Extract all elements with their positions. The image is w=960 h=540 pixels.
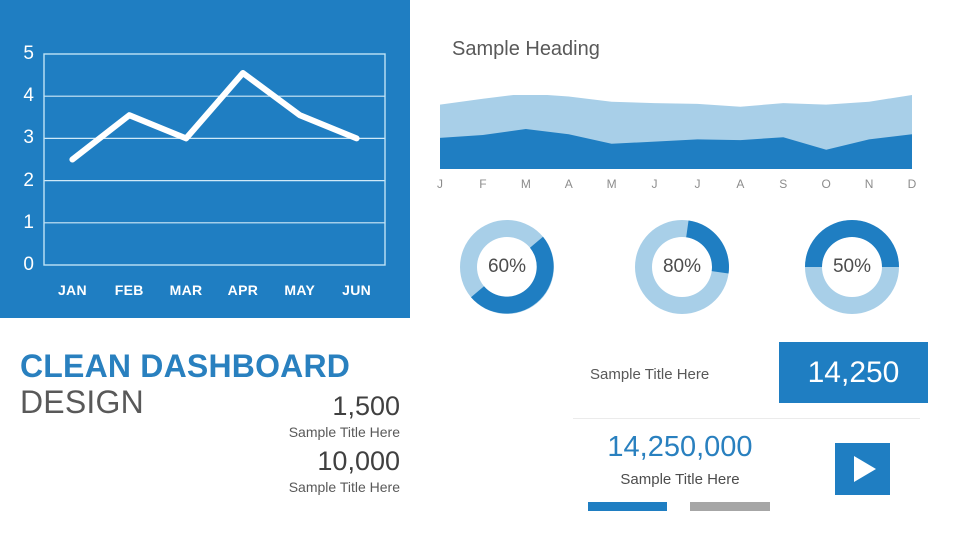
line-chart-gridlines <box>44 96 385 223</box>
x-axis-tick-label: N <box>858 176 880 192</box>
highlight-kpi-caption: Sample Title Here <box>600 470 760 490</box>
boxed-kpi-label: Sample Title Here <box>590 364 709 385</box>
x-axis-tick-label: S <box>772 176 794 192</box>
y-axis-tick-label: 2 <box>8 171 34 190</box>
boxed-kpi-value-card[interactable]: 14,250 <box>779 342 928 403</box>
y-axis-tick-label: 1 <box>8 213 34 232</box>
donut-center-label: 80% <box>627 212 737 322</box>
donut-chart[interactable]: 50% <box>797 212 907 322</box>
kpi-block: 10,000 Sample Title Here <box>120 445 400 498</box>
x-axis-tick-label: A <box>558 176 580 192</box>
dashboard-canvas: 012345 JANFEBMARAPRMAYJUN CLEAN DASHBOAR… <box>0 0 960 540</box>
x-axis-tick-label: FEB <box>101 283 158 297</box>
y-axis-tick-label: 3 <box>8 128 34 147</box>
donut-chart[interactable]: 80% <box>627 212 737 322</box>
x-axis-tick-label: J <box>644 176 666 192</box>
x-axis-tick-label: JAN <box>44 283 101 297</box>
x-axis-tick-label: F <box>472 176 494 192</box>
left-kpi-list: 1,500 Sample Title Here 10,000 Sample Ti… <box>120 390 400 500</box>
x-axis-tick-label: J <box>429 176 451 192</box>
kpi-caption: Sample Title Here <box>120 477 400 498</box>
line-chart-svg <box>0 0 410 318</box>
area-chart-svg <box>440 95 912 169</box>
kpi-caption: Sample Title Here <box>120 422 400 443</box>
x-axis-tick-label: M <box>515 176 537 192</box>
x-axis-tick-label: MAY <box>271 283 328 297</box>
x-axis-tick-label: D <box>901 176 923 192</box>
divider <box>573 418 920 419</box>
x-axis-tick-label: A <box>729 176 751 192</box>
donut-center-label: 60% <box>452 212 562 322</box>
boxed-kpi-value: 14,250 <box>808 356 900 390</box>
x-axis-tick-label: M <box>601 176 623 192</box>
x-axis-tick-label: J <box>686 176 708 192</box>
y-axis-tick-label: 0 <box>8 255 34 274</box>
x-axis-tick-label: MAR <box>158 283 215 297</box>
x-axis-tick-label: O <box>815 176 837 192</box>
area-chart-x-axis: JFMAMJJASOND <box>434 176 918 192</box>
progress-bar-muted[interactable] <box>690 502 770 511</box>
donut-center-label: 50% <box>797 212 907 322</box>
play-icon <box>835 443 890 495</box>
y-axis-tick-label: 5 <box>8 44 34 63</box>
x-axis-tick-label: JUN <box>328 283 385 297</box>
line-chart-panel: 012345 JANFEBMARAPRMAYJUN <box>0 0 410 318</box>
line-series-path <box>72 73 356 160</box>
x-axis-tick-label: APR <box>215 283 272 297</box>
y-axis-tick-label: 4 <box>8 86 34 105</box>
play-button[interactable] <box>835 443 890 495</box>
kpi-block: 1,500 Sample Title Here <box>120 390 400 443</box>
kpi-value: 10,000 <box>120 445 400 477</box>
kpi-value: 1,500 <box>120 390 400 422</box>
brand-line-1: CLEAN DASHBOARD <box>20 348 350 384</box>
plot-area-border <box>44 54 385 265</box>
donut-chart[interactable]: 60% <box>452 212 562 322</box>
progress-bar-filled[interactable] <box>588 502 667 511</box>
section-heading: Sample Heading <box>452 36 600 62</box>
highlight-kpi-value: 14,250,000 <box>600 430 760 464</box>
